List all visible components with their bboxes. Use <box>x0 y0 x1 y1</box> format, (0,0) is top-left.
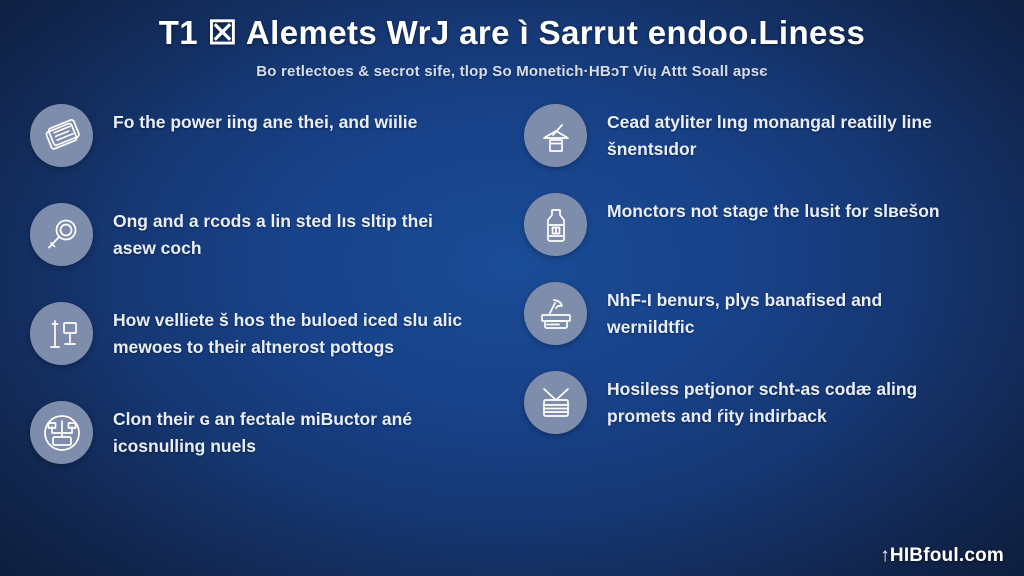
watermark: ↑ HIBfoul.com <box>880 545 1004 567</box>
right-column: Cead atyliter lıng monangal reatilly lin… <box>512 104 1024 560</box>
list-item: Fo the power iing ane thei, and wiilie <box>30 104 490 167</box>
left-column: Fo the power iing ane thei, and wiilie O… <box>0 104 512 560</box>
magnifier-icon <box>30 203 93 266</box>
bottle-flask-icon <box>524 193 587 256</box>
network-circle-icon <box>30 401 93 464</box>
list-item: Cead atyliter lıng monangal reatilly lin… <box>524 104 1002 167</box>
list-item-label: Hosiless petjonor scht-as codæ aling pro… <box>607 371 957 429</box>
page-subtitle: Bo retlectoes & secrot sife, tlop So Mon… <box>0 63 1024 81</box>
list-item: Ong and a rcods a lin sted lıs sltip the… <box>30 203 490 266</box>
watermark-label: HIBfoul.com <box>890 545 1004 567</box>
list-item-label: Cead atyliter lıng monangal reatilly lin… <box>607 104 957 162</box>
list-item-label: Fo the power iing ane thei, and wiilie <box>113 104 417 136</box>
list-item-label: NhF-I benurs, plys banafised and wernild… <box>607 282 957 340</box>
content-columns: Fo the power iing ane thei, and wiilie O… <box>0 104 1024 560</box>
list-item-label: How velliete š hos the buloed iced slu a… <box>113 302 463 360</box>
signpost-easel-icon <box>30 302 93 365</box>
list-item-label: Monctors not stage the lusit for slвešon <box>607 193 940 225</box>
newspaper-card-icon <box>30 104 93 167</box>
page-title: T1 ☒ Alemets WrJ are ì Sarrut endoo.Line… <box>0 14 1024 52</box>
watermark-mark-icon: ↑ <box>880 546 890 565</box>
bin-with-lid-icon <box>524 104 587 167</box>
list-item: Monctors not stage the lusit for slвešon <box>524 193 1002 256</box>
list-item: How velliete š hos the buloed iced slu a… <box>30 302 490 365</box>
list-item: Hosiless petjonor scht-as codæ aling pro… <box>524 371 1002 434</box>
list-item: NhF-I benurs, plys banafised and wernild… <box>524 282 1002 345</box>
printer-scanner-icon <box>524 282 587 345</box>
list-item-label: Ong and a rcods a lin sted lıs sltip the… <box>113 203 463 261</box>
list-item: Clon their ɢ an fectale miBuctor ané ico… <box>30 401 490 464</box>
header: T1 ☒ Alemets WrJ are ì Sarrut endoo.Line… <box>0 0 1024 81</box>
list-item-label: Clon their ɢ an fectale miBuctor ané ico… <box>113 401 463 459</box>
infographic-slide: T1 ☒ Alemets WrJ are ì Sarrut endoo.Line… <box>0 0 1024 576</box>
tv-antenna-icon <box>524 371 587 434</box>
